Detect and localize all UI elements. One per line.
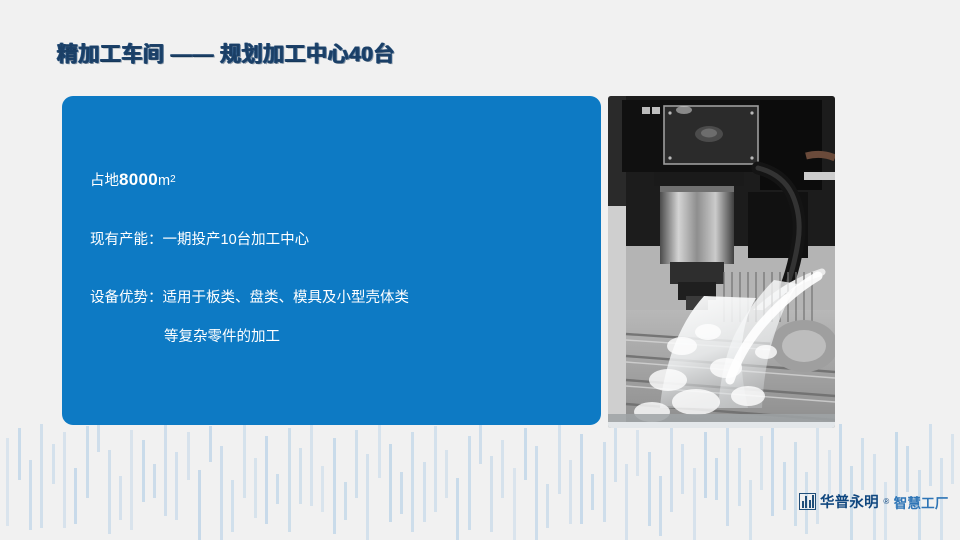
decorative-bar (209, 426, 212, 462)
decorative-bar (861, 438, 864, 490)
decorative-bar (198, 470, 201, 540)
decorative-bar (659, 476, 662, 536)
decorative-bar (265, 436, 268, 524)
decorative-bar (119, 476, 122, 520)
area-unit: m (158, 173, 170, 189)
decorative-bar (738, 448, 741, 506)
decorative-bar (18, 428, 21, 480)
decorative-bar (670, 424, 673, 512)
page-title: 精加工车间 —— 规划加工中心40台 (57, 38, 395, 68)
decorative-bar (6, 438, 9, 526)
brand-logo: 华普永明 ® 智慧工厂 (799, 491, 949, 512)
decorative-bar (681, 444, 684, 494)
decorative-bar (614, 426, 617, 482)
decorative-bar (423, 462, 426, 522)
decorative-bar (187, 432, 190, 480)
decorative-bar (108, 450, 111, 534)
decorative-bar (569, 460, 572, 524)
decorative-bar (400, 472, 403, 514)
decorative-bar (243, 424, 246, 498)
decorative-bar (704, 432, 707, 498)
decorative-bar (771, 424, 774, 516)
decorative-bar (288, 428, 291, 532)
decorative-bar (220, 446, 223, 540)
decorative-bar (906, 446, 909, 492)
decorative-bar (389, 444, 392, 522)
decorative-bar (411, 432, 414, 532)
decorative-bar (63, 432, 66, 528)
decorative-bar (434, 426, 437, 512)
decorative-bar (794, 442, 797, 526)
decorative-bar (456, 478, 459, 540)
decorative-bar (378, 424, 381, 478)
decorative-bar (760, 436, 763, 490)
decorative-bar (625, 464, 628, 540)
area-value: 8000 (119, 170, 158, 189)
decorative-bar (603, 442, 606, 522)
decorative-bar (175, 452, 178, 520)
decorative-bar (333, 438, 336, 534)
decorative-bar (546, 484, 549, 528)
area-label: 占地 (90, 173, 119, 189)
decorative-bar (142, 440, 145, 502)
decorative-bar (153, 464, 156, 498)
decorative-bar (164, 424, 167, 516)
decorative-bar (591, 474, 594, 510)
decorative-bar (130, 430, 133, 530)
decorative-bar (636, 430, 639, 476)
decorative-bar (366, 454, 369, 540)
factory-bars-icon (799, 493, 816, 510)
decorative-bar (97, 424, 100, 452)
info-line-advantage: 设备优势：适用于板类、盘类、模具及小型壳体类 (90, 288, 585, 309)
info-panel-text-block: 占地8000m2 现有产能：一期投产10台加工中心 设备优势：适用于板类、盘类、… (90, 168, 585, 348)
decorative-bar (726, 426, 729, 526)
decorative-bar (445, 450, 448, 498)
decorative-bar (231, 480, 234, 532)
decorative-bar (580, 434, 583, 524)
area-unit-exponent: 2 (170, 174, 176, 185)
machine-photo-graphic (608, 96, 835, 428)
decorative-bar (535, 446, 538, 540)
decorative-bar (693, 468, 696, 540)
decorative-bar (783, 462, 786, 510)
decorative-bar (828, 450, 831, 494)
decorative-bar (86, 426, 89, 498)
decorative-bar (310, 424, 313, 506)
decorative-bar-pattern (0, 424, 960, 540)
decorative-bar (299, 448, 302, 504)
decorative-bar (715, 458, 718, 500)
decorative-bar (52, 444, 55, 484)
brand-subtitle: 智慧工厂 (894, 492, 949, 512)
decorative-bar (648, 452, 651, 526)
decorative-bar (254, 458, 257, 518)
decorative-bar (951, 434, 954, 484)
decorative-bar (355, 430, 358, 498)
decorative-bar (479, 424, 482, 464)
decorative-bar (749, 480, 752, 540)
brand-name: 华普永明 (820, 491, 879, 512)
decorative-bar (321, 466, 324, 512)
decorative-bar (501, 440, 504, 498)
decorative-bar (558, 424, 561, 494)
trademark-symbol: ® (883, 497, 889, 506)
decorative-bar (929, 424, 932, 486)
decorative-bar (490, 456, 493, 532)
decorative-bar (344, 482, 347, 520)
info-line-advantage-continued: 等复杂零件的加工 (90, 327, 585, 348)
decorative-bar (513, 468, 516, 540)
info-line-capacity: 现有产能：一期投产10台加工中心 (90, 230, 585, 251)
decorative-bar (468, 436, 471, 530)
machining-center-photo (608, 96, 835, 428)
info-line-area: 占地8000m2 (90, 168, 585, 193)
decorative-bar (524, 428, 527, 480)
decorative-bar (40, 424, 43, 528)
decorative-bar (74, 468, 77, 524)
decorative-bar (839, 424, 842, 496)
decorative-bar (276, 474, 279, 504)
decorative-bar (29, 460, 32, 530)
info-panel: 占地8000m2 现有产能：一期投产10台加工中心 设备优势：适用于板类、盘类、… (62, 96, 601, 425)
